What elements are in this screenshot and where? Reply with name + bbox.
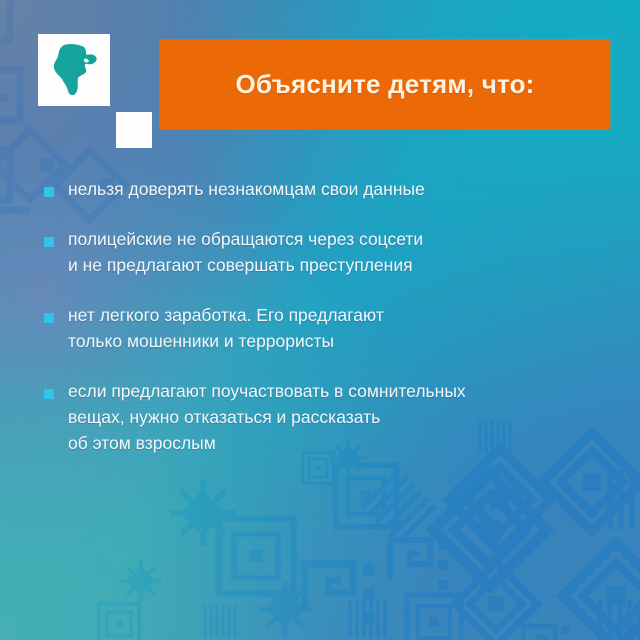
title-banner: Объясните детям, что: bbox=[160, 40, 610, 129]
belarus-map-icon bbox=[48, 42, 102, 98]
list-item-text: полицейские не обращаются через соцсети … bbox=[68, 226, 602, 278]
list-item-line: полицейские не обращаются через соцсети bbox=[68, 226, 602, 252]
list-item-line: нет легкого заработка. Его предлагают bbox=[68, 302, 602, 328]
list-item-line: нельзя доверять незнакомцам свои данные bbox=[68, 176, 602, 202]
list-item-line: и не предлагают совершать преступления bbox=[68, 252, 602, 278]
list-item-text: нельзя доверять незнакомцам свои данные bbox=[68, 176, 602, 202]
bullet-square-icon bbox=[44, 187, 54, 197]
page-title: Объясните детям, что: bbox=[235, 69, 534, 100]
list-item-line: вещах, нужно отказаться и рассказать bbox=[68, 404, 602, 430]
list-item-text: нет легкого заработка. Его предлагают то… bbox=[68, 302, 602, 354]
list-item: полицейские не обращаются через соцсети … bbox=[42, 226, 602, 278]
belarus-map-logo bbox=[38, 34, 136, 132]
infographic-poster: Объясните детям, что: нельзя доверять не… bbox=[0, 0, 640, 640]
list-item: нельзя доверять незнакомцам свои данные bbox=[42, 176, 602, 202]
bullet-square-icon bbox=[44, 237, 54, 247]
list-item-line: только мошенники и террористы bbox=[68, 328, 602, 354]
advice-bullet-list: нельзя доверять незнакомцам свои данные … bbox=[42, 176, 602, 456]
bullet-square-icon bbox=[44, 313, 54, 323]
logo-tile-small bbox=[116, 112, 152, 148]
list-item-line: об этом взрослым bbox=[68, 430, 602, 456]
bullet-square-icon bbox=[44, 389, 54, 399]
list-item: если предлагают поучаствовать в сомнител… bbox=[42, 378, 602, 456]
list-item: нет легкого заработка. Его предлагают то… bbox=[42, 302, 602, 354]
list-item-text: если предлагают поучаствовать в сомнител… bbox=[68, 378, 602, 456]
list-item-line: если предлагают поучаствовать в сомнител… bbox=[68, 378, 602, 404]
